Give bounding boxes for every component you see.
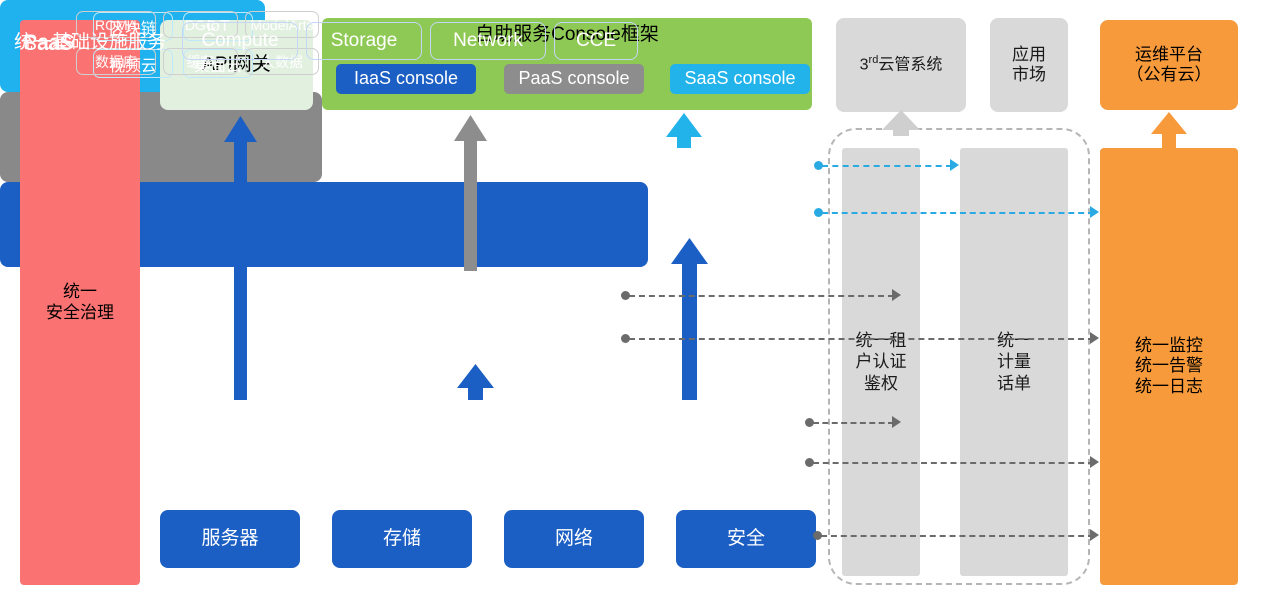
dashed-line-infra-row2-to-ops — [813, 462, 1094, 464]
ops-column-line-2: 统一告警 — [1135, 356, 1203, 376]
iaas-console-chip[interactable]: IaaS console — [336, 64, 476, 94]
dashed-line-paas-row2-to-ops — [629, 338, 1094, 340]
auth-line-2: 户认证 — [856, 351, 907, 372]
ops-column-line-3: 统一日志 — [1135, 377, 1203, 397]
saas-console-chip[interactable]: SaaS console — [670, 64, 810, 94]
arrow-infra-to-paas — [457, 364, 494, 400]
app-market-box[interactable]: 应用 市场 — [990, 18, 1068, 112]
arrow-ops-column-to-ops-platform — [1151, 112, 1187, 148]
arrowhead-resources-to-ops — [1090, 529, 1099, 541]
infra-item-network[interactable]: Network — [430, 22, 546, 60]
ops-platform-box[interactable]: 运维平台 （公有云） — [1100, 20, 1238, 110]
governance-line-2: 安全治理 — [46, 303, 114, 323]
ops-column-line-1: 统一监控 — [1135, 336, 1203, 356]
architecture-diagram: 统一 安全治理 API网关 自助服务Console框架 IaaS console… — [0, 0, 1265, 605]
third-party-label: 3rd云管系统 — [860, 54, 943, 75]
auth-line-3: 鉴权 — [856, 373, 907, 394]
ops-platform-line-1: 运维平台 — [1127, 45, 1212, 65]
infrastructure-label: 统一基础设施服务 — [14, 27, 166, 54]
infra-item-compute[interactable]: Compute — [182, 22, 298, 60]
arrowhead-saas-to-ops — [1090, 206, 1099, 218]
arrow-infra-to-saas — [671, 238, 708, 400]
dashed-line-saas-to-auth — [822, 165, 952, 167]
metering-line-3: 话单 — [997, 373, 1031, 394]
dashed-line-resources-to-ops — [821, 535, 1094, 537]
ops-platform-line-2: （公有云） — [1127, 65, 1212, 85]
resource-box-server[interactable]: 服务器 — [160, 510, 300, 568]
metering-line-2: 计量 — [997, 351, 1031, 372]
arrowhead-infra-row2-to-ops — [1090, 456, 1099, 468]
infra-item-storage[interactable]: Storage — [306, 22, 422, 60]
arrowhead-saas-to-auth — [950, 159, 959, 171]
metering-line-1: 统一 — [997, 330, 1031, 351]
resource-box-network[interactable]: 网络 — [504, 510, 644, 568]
app-market-line-2: 市场 — [1012, 65, 1046, 85]
arrowhead-infra-row1-to-auth — [892, 416, 901, 428]
dashed-line-saas-to-ops — [822, 212, 1094, 214]
auth-line-1: 统一租 — [856, 330, 907, 351]
unified-security-governance-column[interactable]: 统一 安全治理 — [20, 20, 140, 585]
arrow-saas-to-console — [666, 113, 702, 148]
paas-console-chip[interactable]: PaaS console — [504, 64, 644, 94]
arrowhead-paas-row1-to-auth — [892, 289, 901, 301]
governance-line-1: 统一 — [46, 282, 114, 302]
infra-item-cce[interactable]: CCE — [554, 22, 638, 60]
arrowhead-paas-row2-to-ops — [1090, 332, 1099, 344]
resource-box-storage[interactable]: 存储 — [332, 510, 472, 568]
ops-platform-column[interactable]: 统一监控 统一告警 统一日志 — [1100, 148, 1238, 585]
third-party-cloud-management-box[interactable]: 3rd云管系统 — [836, 18, 966, 112]
dashed-line-paas-row1-to-auth — [629, 295, 894, 297]
resource-box-security[interactable]: 安全 — [676, 510, 816, 568]
app-market-line-1: 应用 — [1012, 45, 1046, 65]
dashed-line-infra-row1-to-auth — [813, 422, 894, 424]
